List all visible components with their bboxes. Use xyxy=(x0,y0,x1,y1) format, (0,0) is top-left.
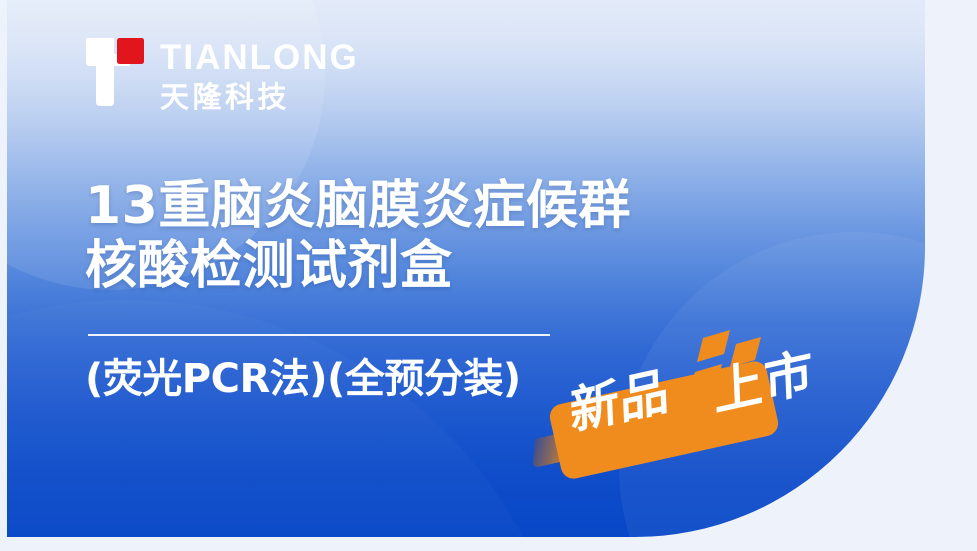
brand-name-cn: 天隆科技 xyxy=(160,83,359,112)
page-title: 13重脑炎脑膜炎症候群 核酸检测试剂盒 xyxy=(85,176,631,297)
page-subtitle: (荧光PCR法)(全预分装) xyxy=(85,357,521,401)
brand-logo: TIANLONG 天隆科技 xyxy=(84,36,359,112)
headline-line-2: 核酸检测试剂盒 xyxy=(85,236,631,296)
brand-wordmark: TIANLONG 天隆科技 xyxy=(160,36,359,112)
brand-name-en: TIANLONG xyxy=(160,40,359,75)
new-product-badge: 新品 上市 xyxy=(531,330,891,500)
divider-rule xyxy=(88,334,550,336)
tianlong-t-mark-icon xyxy=(84,36,146,108)
promo-card: TIANLONG 天隆科技 13重脑炎脑膜炎症候群 核酸检测试剂盒 (荧光PCR… xyxy=(7,0,925,537)
poster-root: TIANLONG 天隆科技 13重脑炎脑膜炎症候群 核酸检测试剂盒 (荧光PCR… xyxy=(0,0,977,551)
headline-line-1: 13重脑炎脑膜炎症候群 xyxy=(85,176,631,236)
